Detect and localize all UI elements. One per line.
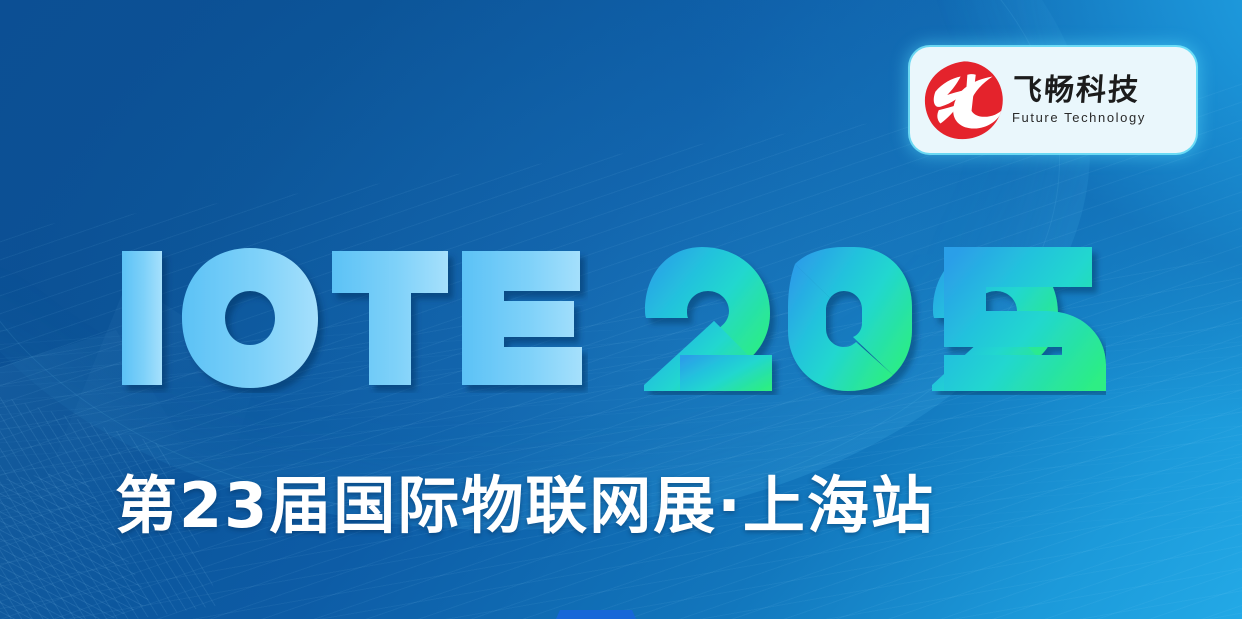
iote-2025-banner: 飞畅科技 Future Technology [0,0,1242,619]
year-wordmark [640,243,1106,395]
main-lockup: 第23届国际物联网展·上海站 [0,0,1242,619]
iote-wordmark [118,243,588,393]
title-row [118,243,1106,395]
event-subtitle: 第23届国际物联网展·上海站 [115,455,1125,545]
